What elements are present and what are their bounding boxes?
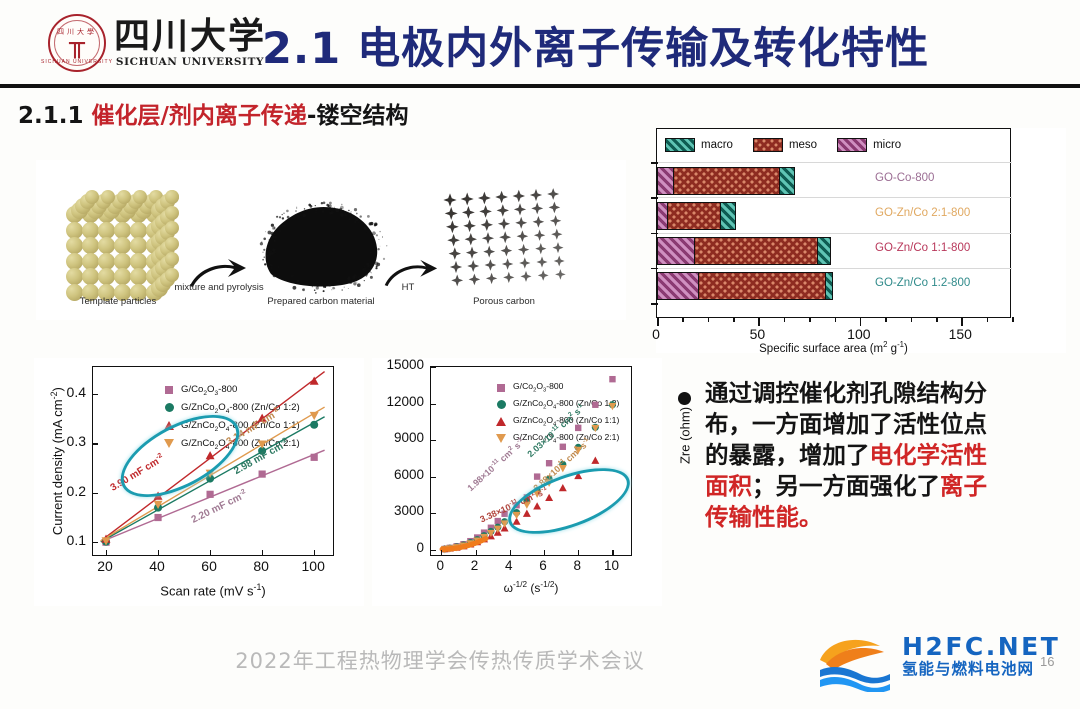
tp-line4reda: 面积	[705, 472, 752, 500]
plotA-x-tick-label: 20	[97, 558, 113, 574]
plotB-y-tick	[431, 477, 436, 478]
template-particle	[66, 222, 83, 239]
university-name-en: SICHUAN UNIVERSITY	[116, 56, 264, 68]
template-particle	[165, 252, 179, 266]
plotB-x-tick-label: 2	[471, 558, 479, 573]
xlab-mid: g	[887, 343, 897, 355]
plotB-x-tick	[544, 550, 545, 555]
data-marker	[495, 518, 501, 524]
plotA-xlab-a: Scan rate (mV s	[160, 583, 253, 598]
legend-swatch-meso-icon	[753, 138, 783, 152]
subtitle-number: 2.1.1	[18, 103, 92, 129]
slide-header: 四川大學 ╥ SICHUAN UNIVERSITY 四川大学 SICHUAN U…	[0, 0, 1080, 88]
seal-bottom-text: SICHUAN UNIVERSITY	[41, 59, 113, 65]
tp-line4redb: 离子	[940, 472, 987, 500]
plotA-x-tick-label: 100	[301, 558, 324, 574]
bar-x-tick	[657, 317, 659, 326]
bar-row-separator	[657, 162, 1012, 163]
bar-x-tick	[911, 317, 913, 322]
plotA-x-axis-label: Scan rate (mV s-1)	[92, 582, 334, 598]
sichuan-university-seal-icon: 四川大學 ╥ SICHUAN UNIVERSITY	[48, 14, 106, 72]
plotB-x-tick-label: 10	[604, 558, 619, 573]
plotA-y-tick	[93, 394, 98, 395]
bar-y-tick	[651, 303, 658, 305]
template-particle	[66, 253, 83, 270]
conclusion-text: 通过调控催化剂孔隙结构分 布，一方面增加了活性位点 的暴露，增加了电化学活性 面…	[705, 378, 1073, 533]
plotB-frame: G/Co2O3-800G/ZnCo2O4-800 (Zn/Co 1:2)G/Zn…	[430, 366, 632, 556]
legend-swatch-micro-icon	[837, 138, 867, 152]
porous-carbon-image	[436, 186, 576, 294]
plotA-x-tick	[158, 550, 159, 555]
plotB-y-tick-label: 15000	[372, 357, 424, 372]
plotB-xlab-s2: -1/2	[540, 580, 554, 589]
bar-x-tick	[733, 317, 735, 322]
bar-y-tick	[651, 197, 658, 199]
data-marker	[592, 402, 598, 408]
university-logo: 四川大學 ╥ SICHUAN UNIVERSITY 四川大学 SICHUAN U…	[48, 14, 266, 72]
bar-category-label: GO-Co-800	[875, 172, 934, 184]
legend-item-micro: micro	[837, 138, 901, 152]
plotB-x-tick-label: 6	[539, 558, 547, 573]
bullet-point-icon	[678, 392, 691, 405]
schematic-caption-3: Porous carbon	[434, 296, 574, 307]
plotB-x-tick	[476, 550, 477, 555]
plotB-x-tick	[612, 550, 613, 555]
bar-category-label: GO-Zn/Co 2:1-800	[875, 207, 970, 219]
bar-x-tick	[758, 317, 760, 326]
template-particle	[165, 206, 179, 220]
bar-segment-macro	[818, 238, 830, 264]
data-marker	[483, 536, 488, 541]
plotB-y-tick	[431, 513, 436, 514]
template-particle	[114, 237, 131, 254]
plotB-x-axis-label: ω-1/2 (s-1/2)	[430, 580, 632, 595]
bar-x-tick	[936, 317, 938, 322]
xlab-a: Specific surface area (m	[759, 343, 883, 355]
plotA-x-tick-label: 80	[253, 558, 269, 574]
plotA-y-tick	[93, 443, 98, 444]
data-marker	[310, 421, 318, 429]
bar-segment-meso	[674, 168, 779, 194]
specific-surface-area-bar-chart: macro meso micro GO-Co-800GO-Zn/Co 2:1-8…	[656, 128, 1066, 353]
bar-segment-meso	[668, 203, 721, 229]
template-particle	[66, 268, 83, 285]
data-marker	[259, 470, 266, 477]
plotB-y-tick-label: 9000	[372, 430, 424, 445]
plotB-y-tick	[431, 404, 436, 405]
arrow-label-2: HT	[388, 282, 428, 293]
bar-row	[657, 272, 833, 300]
template-particle	[165, 237, 179, 251]
page-number: 16	[1040, 654, 1054, 669]
data-marker	[575, 425, 581, 431]
bar-segment-meso	[695, 238, 819, 264]
bar-y-tick	[651, 233, 658, 235]
tp-line2: 布，一方面增加了活性位点	[705, 410, 987, 438]
tp-line1: 通过调控催化剂孔隙结构分	[705, 379, 987, 407]
template-particle	[165, 190, 179, 204]
template-particle	[82, 222, 99, 239]
bar-row	[657, 167, 795, 195]
template-particle	[130, 253, 147, 270]
carbon-powder-shape	[251, 190, 391, 294]
plotB-y-tick-label: 0	[372, 540, 424, 555]
plotB-y-tick-label: 3000	[372, 503, 424, 518]
plotA-frame: G/Co2O3-800G/ZnCo2O4-800 (Zn/Co 1:2)G/Zn…	[92, 366, 334, 556]
synthesis-schematic: Template particles mixture and pyrolysis…	[36, 160, 626, 320]
brand-wave-icon	[818, 634, 896, 692]
tp-line5red: 传输性能	[705, 503, 799, 531]
xlab-sup2: -1	[897, 340, 904, 349]
brand-name-en: H2FC.NET	[902, 634, 1060, 660]
subtitle-red: 催化层/剂内离子传递	[92, 103, 307, 129]
template-particle	[165, 221, 179, 235]
data-marker	[609, 376, 615, 382]
template-particle	[82, 268, 99, 285]
template-particle	[114, 253, 131, 270]
bar-x-tick	[885, 317, 887, 322]
plotB-xlab-c: )	[554, 581, 558, 595]
template-particle	[130, 237, 147, 254]
bar-row-separator	[657, 197, 1012, 198]
current-density-vs-scan-rate-plot: Current density (mA cm-2) G/Co2O3-800G/Z…	[34, 358, 364, 606]
plotA-xlab-tail: )	[261, 583, 265, 598]
plotA-x-tick	[262, 550, 263, 555]
plotA-y-tick	[93, 493, 98, 494]
plotA-y-tick-label: 0.1	[42, 532, 86, 548]
section-subtitle: 2.1.1 催化层/剂内离子传递-镂空结构	[18, 96, 408, 130]
bar-segment-macro	[780, 168, 794, 194]
bar-y-tick	[651, 268, 658, 270]
template-particle	[98, 253, 115, 270]
tp-line3a: 的暴露，增加了	[705, 441, 870, 469]
template-particle	[66, 237, 83, 254]
bar-x-tick	[708, 317, 710, 322]
plotB-x-tick-label: 0	[437, 558, 445, 573]
plotA-ylab-a: Current density (mA cm	[50, 399, 65, 535]
plotA-y-tick-label: 0.2	[42, 483, 86, 499]
plotB-y-tick-label: 6000	[372, 467, 424, 482]
brand-name-cn: 氢能与燃料电池网	[902, 660, 1060, 679]
plotB-x-tick	[578, 550, 579, 555]
legend-label-micro: micro	[873, 139, 901, 151]
template-particle	[114, 222, 131, 239]
tp-line3red: 电化学活性	[870, 441, 988, 469]
plotA-y-tick	[93, 542, 98, 543]
bar-row-separator	[657, 268, 1012, 269]
data-marker	[591, 457, 599, 464]
bar-segment-micro	[658, 273, 699, 299]
bar-category-label: GO-Zn/Co 1:1-800	[875, 242, 970, 254]
plotA-x-tick-label: 60	[201, 558, 217, 574]
bar-x-tick	[835, 317, 837, 322]
subtitle-dark: -镂空结构	[307, 103, 409, 129]
bar-row	[657, 202, 736, 230]
plotB-xlab-s1: -1/2	[513, 580, 527, 589]
header-divider	[0, 84, 1080, 88]
template-particles-cube-image	[58, 188, 178, 292]
xlab-tail: )	[904, 343, 908, 355]
template-particle	[98, 237, 115, 254]
data-marker	[310, 412, 319, 420]
plotB-y-tick	[431, 550, 436, 551]
bar-category-label: GO-Zn/Co 1:2-800	[875, 277, 970, 289]
template-particle	[98, 222, 115, 239]
bar-segment-macro	[721, 203, 735, 229]
plotA-x-tick	[106, 550, 107, 555]
bar-chart-plot-frame: macro meso micro GO-Co-800GO-Zn/Co 2:1-8…	[656, 128, 1011, 318]
bar-segment-meso	[699, 273, 827, 299]
plotB-y-tick-label: 12000	[372, 394, 424, 409]
data-marker	[560, 444, 566, 450]
plotA-x-tick	[314, 550, 315, 555]
h2fc-brand-logo[interactable]: H2FC.NET 氢能与燃料电池网 16	[818, 630, 1076, 700]
template-particle	[82, 253, 99, 270]
bar-x-tick	[860, 317, 862, 326]
tp-line4b: ；另一方面强化了	[752, 472, 940, 500]
plotB-y-tick	[431, 440, 436, 441]
bar-segment-macro	[826, 273, 832, 299]
plotB-xlab-a: ω	[504, 581, 513, 595]
template-particle	[130, 222, 147, 239]
university-name-cn: 四川大学	[114, 18, 266, 56]
conclusion-text-panel: 通过调控催化剂孔隙结构分 布，一方面增加了活性位点 的暴露，增加了电化学活性 面…	[678, 378, 1073, 533]
plotB-x-tick-label: 8	[573, 558, 581, 573]
legend-label-meso: meso	[789, 139, 817, 151]
tp-line5tail: 。	[799, 503, 823, 531]
plotA-x-tick	[210, 550, 211, 555]
bar-x-tick	[682, 317, 684, 322]
legend-label-macro: macro	[701, 139, 733, 151]
seal-glyph-icon: ╥	[69, 31, 85, 57]
conference-footer: 2022年工程热物理学会传热传质学术会议	[0, 645, 880, 675]
data-marker	[311, 454, 318, 461]
schematic-caption-1: Template particles	[48, 296, 188, 307]
bar-segment-micro	[658, 203, 668, 229]
plotA-y-tick-label: 0.4	[42, 384, 86, 400]
bar-row	[657, 237, 831, 265]
bar-x-tick	[987, 317, 989, 322]
bar-x-tick	[784, 317, 786, 322]
plotB-y-tick	[431, 367, 436, 368]
template-particle	[98, 268, 115, 285]
schematic-caption-2: Prepared carbon material	[236, 296, 406, 307]
legend-swatch-macro-icon	[665, 138, 695, 152]
porous-carbon-lattice	[436, 186, 576, 294]
plotA-y-tick-label: 0.3	[42, 433, 86, 449]
page-title: 2.1 电极内外离子传输及转化特性	[262, 14, 929, 76]
template-particle	[114, 268, 131, 285]
bar-segment-micro	[658, 238, 695, 264]
template-particle	[82, 237, 99, 254]
bar-chart-x-axis-label: Specific surface area (m2 g-1)	[656, 340, 1011, 355]
plotB-x-tick	[510, 550, 511, 555]
legend-item-meso: meso	[753, 138, 817, 152]
plotB-x-tick	[441, 550, 442, 555]
data-marker	[206, 491, 213, 498]
template-particle	[165, 268, 179, 282]
bar-x-tick	[1012, 317, 1014, 322]
plotB-x-tick-label: 4	[505, 558, 513, 573]
prepared-carbon-powder-image	[251, 190, 391, 294]
bar-chart-legend: macro meso micro	[665, 134, 901, 156]
plotB-xlab-b: (s	[527, 581, 540, 595]
bar-row-separator	[657, 233, 1012, 234]
legend-item-macro: macro	[665, 138, 733, 152]
bar-y-tick	[651, 162, 658, 164]
plotA-x-tick-label: 40	[149, 558, 165, 574]
bar-x-tick	[809, 317, 811, 322]
zre-vs-omega-plot: G/Co2O3-800G/ZnCo2O4-800 (Zn/Co 1:2)G/Zn…	[372, 358, 662, 606]
template-particle	[130, 268, 147, 285]
bar-segment-micro	[658, 168, 674, 194]
data-marker	[154, 514, 161, 521]
bar-x-tick	[961, 317, 963, 326]
